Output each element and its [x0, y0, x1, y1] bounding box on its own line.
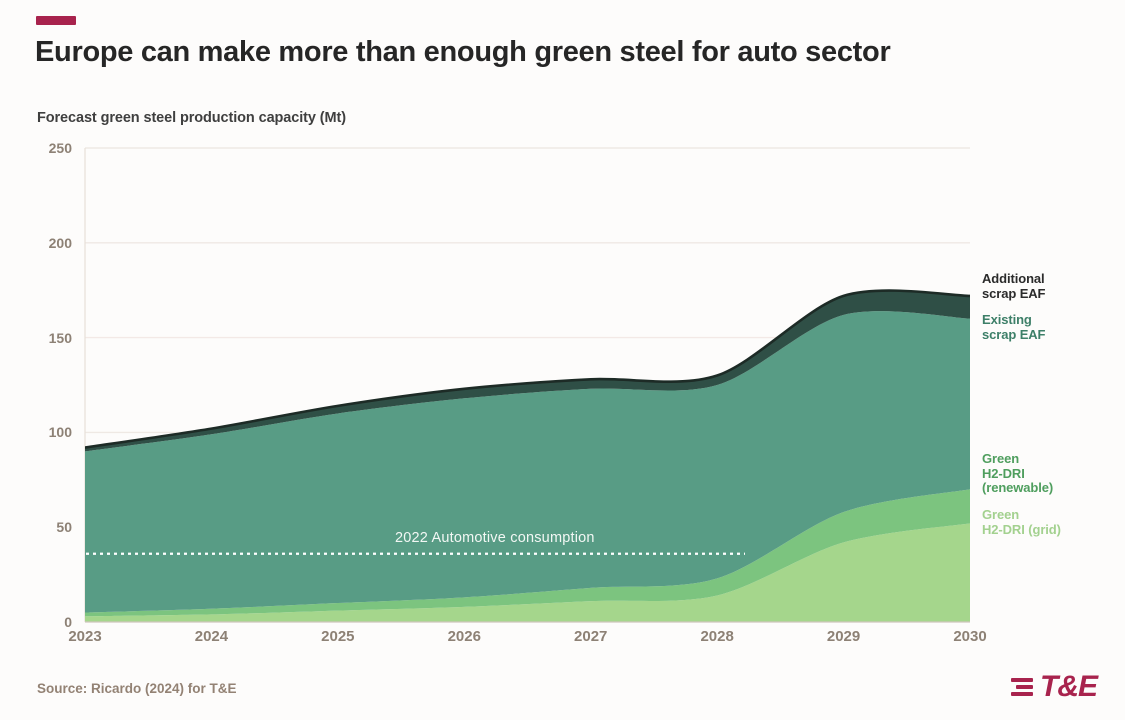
legend-item: Green H2-DRI (renewable) [982, 452, 1053, 496]
te-logo: T&E [1011, 672, 1097, 702]
y-axis-tick-label: 100 [26, 424, 72, 440]
x-axis-tick-label: 2027 [574, 628, 607, 645]
x-axis-tick-label: 2029 [827, 628, 860, 645]
logo-bars-icon [1011, 678, 1033, 696]
stacked-areas [85, 291, 970, 622]
logo-wordmark: T&E [1040, 672, 1097, 702]
area-chart: 050100150200250 202320242025202620272028… [0, 0, 1125, 720]
y-axis-tick-label: 0 [26, 614, 72, 630]
legend-item: Additional scrap EAF [982, 272, 1045, 301]
source-note: Source: Ricardo (2024) for T&E [37, 681, 237, 696]
y-axis-tick-label: 50 [26, 519, 72, 535]
chart-page: Europe can make more than enough green s… [0, 0, 1125, 720]
x-axis-tick-label: 2024 [195, 628, 228, 645]
x-axis-tick-label: 2023 [68, 628, 101, 645]
legend-item: Green H2-DRI (grid) [982, 508, 1061, 537]
y-axis-tick-label: 200 [26, 235, 72, 251]
y-axis-tick-label: 250 [26, 140, 72, 156]
chart-canvas [0, 0, 1125, 720]
x-axis-tick-label: 2028 [700, 628, 733, 645]
y-axis-tick-label: 150 [26, 330, 72, 346]
x-axis-tick-label: 2030 [953, 628, 986, 645]
legend-item: Existing scrap EAF [982, 313, 1045, 342]
y-axis: 050100150200250 [26, 0, 72, 720]
automotive-consumption-label: 2022 Automotive consumption [395, 530, 595, 546]
x-axis-tick-label: 2026 [448, 628, 481, 645]
x-axis-tick-label: 2025 [321, 628, 354, 645]
